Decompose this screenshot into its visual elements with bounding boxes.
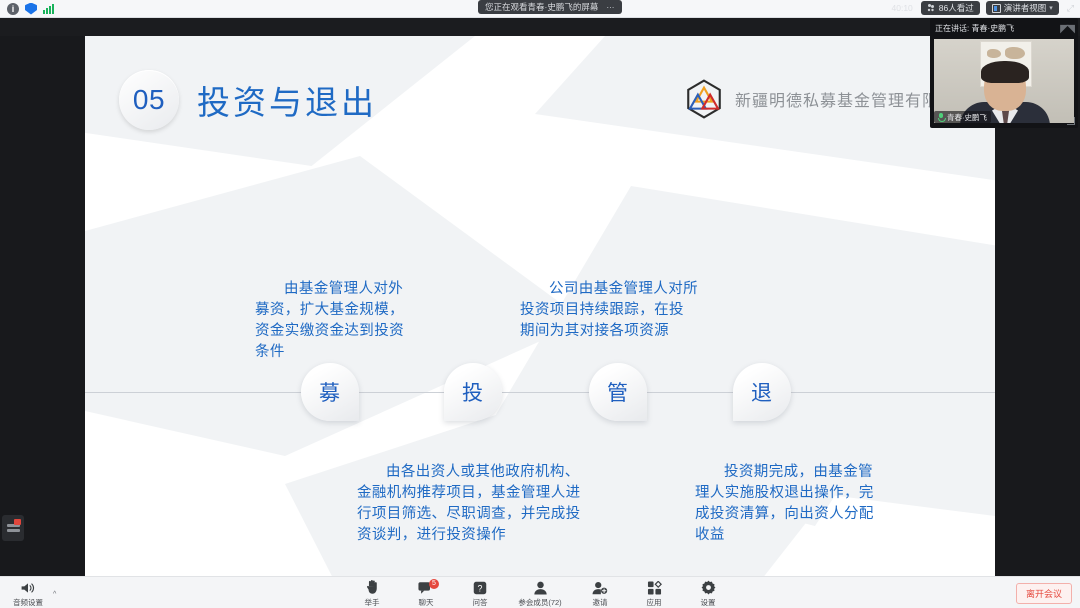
chat-unread-badge: 5 bbox=[429, 579, 439, 589]
signal-bars-icon[interactable] bbox=[43, 4, 54, 14]
info-icon[interactable]: i bbox=[7, 3, 19, 15]
audio-settings-group[interactable]: 音频设置 ^ bbox=[6, 580, 56, 608]
view-mode-label: 演讲者视图 bbox=[1004, 2, 1047, 14]
pip-participant-name: 青春·史鹏飞 bbox=[947, 112, 987, 123]
shield-icon[interactable] bbox=[25, 3, 37, 15]
fullscreen-expand-icon[interactable]: ⤢ bbox=[1065, 1, 1076, 15]
browser-icon-group: i bbox=[0, 3, 54, 15]
raise-hand-button[interactable]: 举手 bbox=[350, 580, 394, 608]
meeting-timer: 40:10 bbox=[890, 1, 915, 15]
qa-button[interactable]: ? 问答 bbox=[458, 580, 502, 608]
mic-icon bbox=[938, 113, 944, 121]
chat-button[interactable]: 5 聊天 bbox=[404, 580, 448, 608]
svg-text:?: ? bbox=[478, 583, 483, 593]
timeline-node-label: 投 bbox=[444, 363, 502, 421]
meeting-toolbar: 音频设置 ^ 举手 5 聊天 bbox=[0, 576, 1080, 608]
self-video-pip[interactable]: 正在讲话: 青春·史鹏飞 ◤◥ 青春·史鹏飞 bbox=[930, 18, 1078, 128]
person-hair bbox=[981, 61, 1029, 83]
recording-indicator-widget[interactable] bbox=[2, 515, 24, 541]
timeline-node-label: 退 bbox=[733, 363, 791, 421]
callout-tou: 由各出资人或其他政府机构、金融机构推荐项目，基金管理人进行项目筛选、尽职调查，并… bbox=[357, 462, 587, 546]
widget-line bbox=[7, 529, 20, 532]
leave-meeting-button[interactable]: 离开会议 bbox=[1016, 583, 1072, 604]
pip-header: 正在讲话: 青春·史鹏飞 ◤◥ bbox=[930, 18, 1078, 39]
people-icon bbox=[927, 4, 936, 13]
screen-share-more-icon[interactable]: ⋯ bbox=[606, 3, 615, 12]
timeline-node-mu: 募 bbox=[301, 363, 359, 421]
participants-label: 参会成员(72) bbox=[518, 597, 561, 608]
timeline-node-tou: 投 bbox=[444, 363, 502, 421]
invite-button[interactable]: 邀请 bbox=[578, 580, 622, 608]
screen-share-notice-text: 您正在观看青春·史鹏飞的屏幕 bbox=[485, 1, 598, 13]
invite-icon bbox=[592, 580, 608, 595]
participants-button[interactable]: 参会成员(72) bbox=[512, 580, 568, 608]
chat-label: 聊天 bbox=[419, 597, 434, 608]
timeline-node-label: 管 bbox=[589, 363, 647, 421]
active-speaker-label: 正在讲话: 青春·史鹏飞 bbox=[935, 23, 1014, 34]
callout-tui: 投资期完成，由基金管理人实施股权退出操作，完成投资清算，向出资人分配收益 bbox=[695, 462, 879, 546]
speaker-icon bbox=[20, 580, 36, 595]
invite-label: 邀请 bbox=[593, 597, 608, 608]
toolbar-center-group: 举手 5 聊天 ? 问答 bbox=[350, 580, 730, 608]
apps-label: 应用 bbox=[647, 597, 662, 608]
layout-view-icon bbox=[992, 4, 1001, 13]
apps-icon bbox=[647, 580, 662, 595]
screen-share-notice: 您正在观看青春·史鹏飞的屏幕 ⋯ bbox=[478, 0, 622, 14]
settings-label: 设置 bbox=[701, 597, 716, 608]
timeline-node-label: 募 bbox=[301, 363, 359, 421]
audio-settings-label: 音频设置 bbox=[13, 597, 43, 608]
viewers-count-chip[interactable]: 86人看过 bbox=[921, 1, 980, 15]
participants-icon bbox=[533, 580, 548, 595]
app-logo-icon: ◤◥ bbox=[1060, 22, 1073, 35]
view-mode-chip[interactable]: 演讲者视图 ▾ bbox=[986, 1, 1059, 15]
raise-hand-icon bbox=[365, 580, 380, 595]
meeting-top-strip bbox=[0, 18, 1080, 36]
pip-resize-handle[interactable] bbox=[1067, 117, 1075, 125]
timeline-node-tui: 退 bbox=[733, 363, 791, 421]
audio-settings-chevron-icon[interactable]: ^ bbox=[53, 591, 56, 598]
qa-label: 问答 bbox=[473, 597, 488, 608]
chevron-down-icon[interactable]: ▾ bbox=[1049, 4, 1053, 12]
callout-mu: 由基金管理人对外募资，扩大基金规模，资金实缴资金达到投资条件 bbox=[255, 279, 413, 363]
viewers-count-label: 86人看过 bbox=[939, 2, 974, 14]
settings-button[interactable]: 设置 bbox=[686, 580, 730, 608]
meeting-stage: 05 投资与退出 新疆明德私募基金管理有限公司 募 bbox=[0, 36, 1080, 576]
shared-slide: 05 投资与退出 新疆明德私募基金管理有限公司 募 bbox=[85, 36, 995, 576]
audio-settings-button[interactable]: 音频设置 bbox=[6, 580, 50, 608]
settings-gear-icon bbox=[701, 580, 716, 595]
apps-button[interactable]: 应用 bbox=[632, 580, 676, 608]
record-dot-icon bbox=[14, 519, 21, 525]
raise-hand-label: 举手 bbox=[365, 597, 380, 608]
pip-name-badge: 青春·史鹏飞 bbox=[934, 111, 991, 123]
meeting-top-right-controls: 40:10 86人看过 演讲者视图 ▾ ⤢ bbox=[890, 1, 1076, 15]
qa-icon: ? bbox=[473, 580, 487, 595]
callout-guan: 公司由基金管理人对所投资项目持续跟踪，在投期间为其对接各项资源 bbox=[520, 279, 698, 342]
timeline-node-guan: 管 bbox=[589, 363, 647, 421]
